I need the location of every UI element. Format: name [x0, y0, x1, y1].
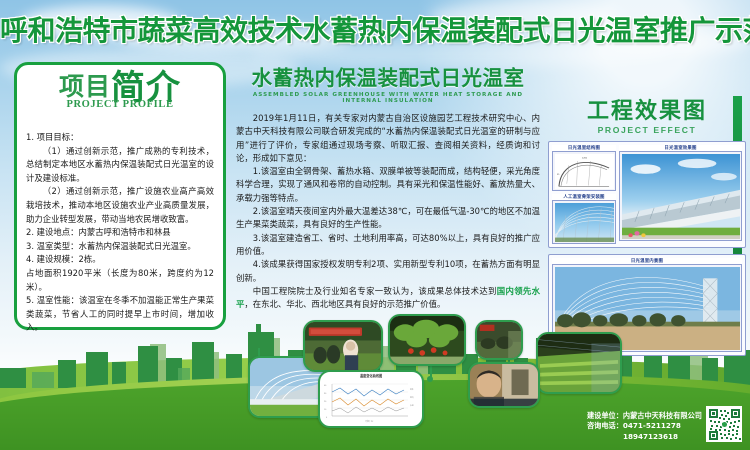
- project-profile-heading: 项目简介 PROJECT PROFILE: [17, 73, 223, 129]
- effect-image-frame-install: 人工温室骨架安装图: [552, 194, 616, 244]
- footer-contact: 建设单位：内蒙古中天科技有限公司 咨询电话：0471-5211278 18947…: [587, 411, 702, 443]
- profile-heading-cn-part1: 项目: [59, 72, 111, 101]
- footer-value-phone: 0471-5211278: [623, 421, 681, 430]
- svg-text:1200: 1200: [581, 157, 587, 159]
- mid-final-suffix: ，在东北、华北、西北地区具有良好的示范推广价值。: [244, 299, 445, 309]
- chart-content: 温度变化曲线图 4030 20100 室外室内水温: [322, 374, 420, 424]
- profile-para: 2. 建设地点：内蒙古呼和浩特市和林县: [26, 226, 214, 240]
- project-effect-title-cn: 工程效果图: [548, 100, 746, 124]
- svg-text:0: 0: [326, 417, 328, 419]
- effect-image-structure-drawing: 日光温室结构图: [552, 145, 616, 191]
- profile-para: 占地面积1920平米（长度为80米，跨度约为12米）。: [26, 267, 214, 294]
- svg-text:35: 35: [556, 174, 559, 176]
- photo-expert-portrait: [468, 362, 540, 408]
- profile-para: 3. 温室类型：水蓄热内保温装配式日光温室。: [26, 240, 214, 254]
- mid-title-cn: 水蓄热内保温装配式日光温室: [236, 66, 540, 90]
- svg-text:时间（h）: 时间（h）: [365, 419, 374, 423]
- qr-code: [706, 406, 742, 442]
- profile-heading-en: PROJECT PROFILE: [17, 99, 223, 110]
- mid-para: 3.该温室建造省工、省时、土地利用率高，可达80%以上，具有良好的推广应用价值。: [236, 232, 540, 259]
- footer-label-phone: 咨询电话：: [587, 421, 623, 430]
- project-profile-body: 1. 项目目标： （1）通过创新示范，推广成熟的专利技术，总结制定本地区水蓄热内…: [17, 131, 223, 341]
- mid-para: 4.该成果获得国家授权发明专利2项、实用新型专利10项，在蓄热方面有明显创新。: [236, 258, 540, 285]
- mid-para: 2019年1月11日，有关专家对内蒙古自治区设施园艺工程技术研究中心、内蒙古中天…: [236, 112, 540, 165]
- project-profile-card: 项目简介 PROJECT PROFILE 1. 项目目标： （1）通过创新示范，…: [14, 62, 226, 330]
- photo-stem-ball: [427, 376, 433, 382]
- profile-heading-cn: 项目简介: [17, 73, 223, 102]
- photo-temperature-chart: 温度变化曲线图 4030 20100 室外室内水温: [318, 370, 424, 428]
- svg-text:10: 10: [324, 409, 327, 411]
- svg-text:室外: 室外: [410, 387, 414, 391]
- photo-image: [390, 316, 464, 364]
- profile-para: （1）通过创新示范，推广成熟的专利技术，总结制定本地区水蓄热内保温装配式日光温室…: [26, 145, 214, 186]
- project-effect-panel: 工程效果图 PROJECT EFFECT 日光温室结构图: [548, 100, 746, 330]
- profile-para: 4. 建设规模：2栋。: [26, 253, 214, 267]
- profile-para: 1. 项目目标：: [26, 131, 214, 145]
- svg-text:室内: 室内: [410, 395, 414, 399]
- footer-label-builder: 建设单位：: [587, 411, 623, 420]
- mid-final-prefix: 中国工程院院士及行业知名专家一致认为，该成果总体技术达到: [253, 286, 497, 296]
- profile-para: （2）通过创新示范，推广设施农业高产高效栽培技术，推动本地区设施农业产业高质量发…: [26, 185, 214, 226]
- mid-body: 2019年1月11日，有关专家对内蒙古自治区设施园艺工程技术研究中心、内蒙古中天…: [236, 112, 540, 311]
- footer-value-mobile: 18947123618: [623, 432, 678, 441]
- mid-para: 2.该温室晴天夜间室内外最大温差达38℃，可在最低气温-30℃的地区不加温生产果…: [236, 205, 540, 232]
- poster-header: 呼和浩特市蔬菜高效技术水蓄热内保温装配式日光温室推广示范基地: [0, 14, 750, 48]
- photo-planting-rows: [536, 332, 622, 394]
- poster-root: 呼和浩特市蔬菜高效技术水蓄热内保温装配式日光温室推广示范基地: [0, 0, 750, 450]
- photo-inspection-visit: [303, 320, 383, 372]
- footer-value-builder: 内蒙古中天科技有限公司: [623, 411, 702, 420]
- greenhouse-description-panel: 水蓄热内保温装配式日光温室 ASSEMBLED SOLAR GREENHOUSE…: [236, 66, 540, 316]
- svg-text:30: 30: [324, 393, 327, 395]
- photo-image: [477, 322, 521, 358]
- mid-para: 1.该温室由全钢骨架、蓄热水箱、双膜单被等装配而成，结构轻便，采光角度科学合理，…: [236, 165, 540, 205]
- photo-tomato-crop: [388, 314, 466, 366]
- photo-image: [470, 364, 538, 406]
- footer-line-3: 18947123618: [587, 432, 702, 443]
- svg-text:20: 20: [324, 401, 327, 403]
- photo-interior-dark: [475, 320, 523, 360]
- profile-para: 5. 温室性能：该温室在冬季不加温能正常生产果菜类蔬菜，节省人工的同时提早上市时…: [26, 294, 214, 335]
- mid-title-en: ASSEMBLED SOLAR GREENHOUSE WITH WATER HE…: [236, 92, 540, 105]
- mid-para-final: 中国工程院院士及行业知名专家一致认为，该成果总体技术达到国内领先水平，在东北、华…: [236, 285, 540, 312]
- svg-text:40: 40: [324, 385, 327, 387]
- svg-text:水温: 水温: [410, 403, 414, 407]
- effect-image-render: 日光温室效果图: [619, 145, 742, 244]
- photo-image: [538, 334, 620, 392]
- page-title: 呼和浩特市蔬菜高效技术水蓄热内保温装配式日光温室推广示范基地: [0, 14, 750, 48]
- photo-image: [305, 322, 381, 370]
- effect-image-group-top: 日光温室结构图: [548, 141, 746, 248]
- project-effect-title-en: PROJECT EFFECT: [548, 125, 746, 135]
- footer-line-1: 建设单位：内蒙古中天科技有限公司: [587, 411, 702, 422]
- footer-line-2: 咨询电话：0471-5211278: [587, 421, 702, 432]
